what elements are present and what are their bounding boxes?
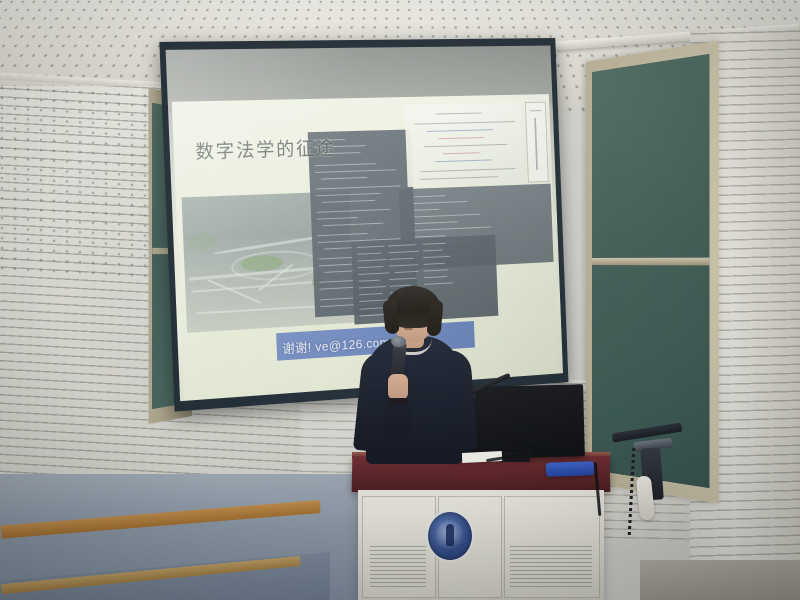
slide-title: 数字法学的征途 bbox=[195, 133, 336, 164]
blackboard-right bbox=[592, 54, 709, 488]
presentation-slide: 谢谢! ve@126.com 数字法学的征途 bbox=[172, 94, 560, 401]
slide-side-card bbox=[525, 102, 549, 183]
blackboard-right-chalk-rail bbox=[592, 258, 709, 266]
projection-screen: 谢谢! ve@126.com 数字法学的征途 bbox=[159, 38, 568, 412]
lecture-hall-photo: 谢谢! ve@126.com 数字法学的征途 bbox=[0, 0, 800, 600]
projection-screen-surface: 谢谢! ve@126.com 数字法学的征途 bbox=[166, 46, 563, 402]
podium-emblem-figure bbox=[446, 524, 454, 546]
slide-document-panel bbox=[404, 102, 524, 187]
floor-right-area bbox=[640, 560, 800, 600]
speaker-hand bbox=[388, 374, 408, 400]
blue-desk-device bbox=[546, 461, 594, 477]
speaker-torso bbox=[366, 336, 462, 464]
podium-body bbox=[358, 490, 604, 600]
speaker-wristwatch bbox=[388, 398, 408, 405]
